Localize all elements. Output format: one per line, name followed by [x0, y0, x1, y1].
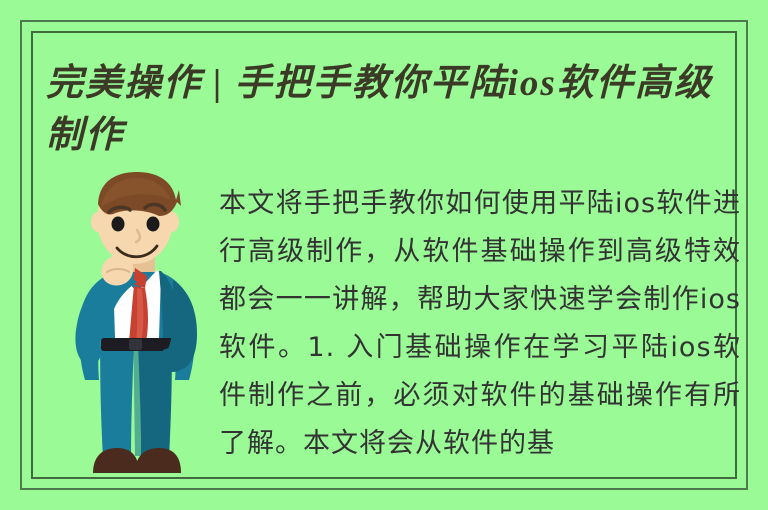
right-ear [165, 212, 179, 232]
article-body: 本文将手把手教你如何使用平陆ios软件进行高级制作，从软件基础操作到高级特效都会… [219, 180, 741, 468]
left-ear [91, 212, 105, 232]
illustration-thinking-businessman [55, 168, 215, 480]
belt-buckle [129, 339, 142, 350]
left-eye [112, 217, 125, 232]
page-title: 完美操作 | 手把手教你平陆ios软件高级制作 [46, 58, 736, 162]
article-card: 完美操作 | 手把手教你平陆ios软件高级制作 [0, 0, 768, 510]
right-eye [147, 217, 160, 232]
left-shoe [93, 448, 139, 473]
